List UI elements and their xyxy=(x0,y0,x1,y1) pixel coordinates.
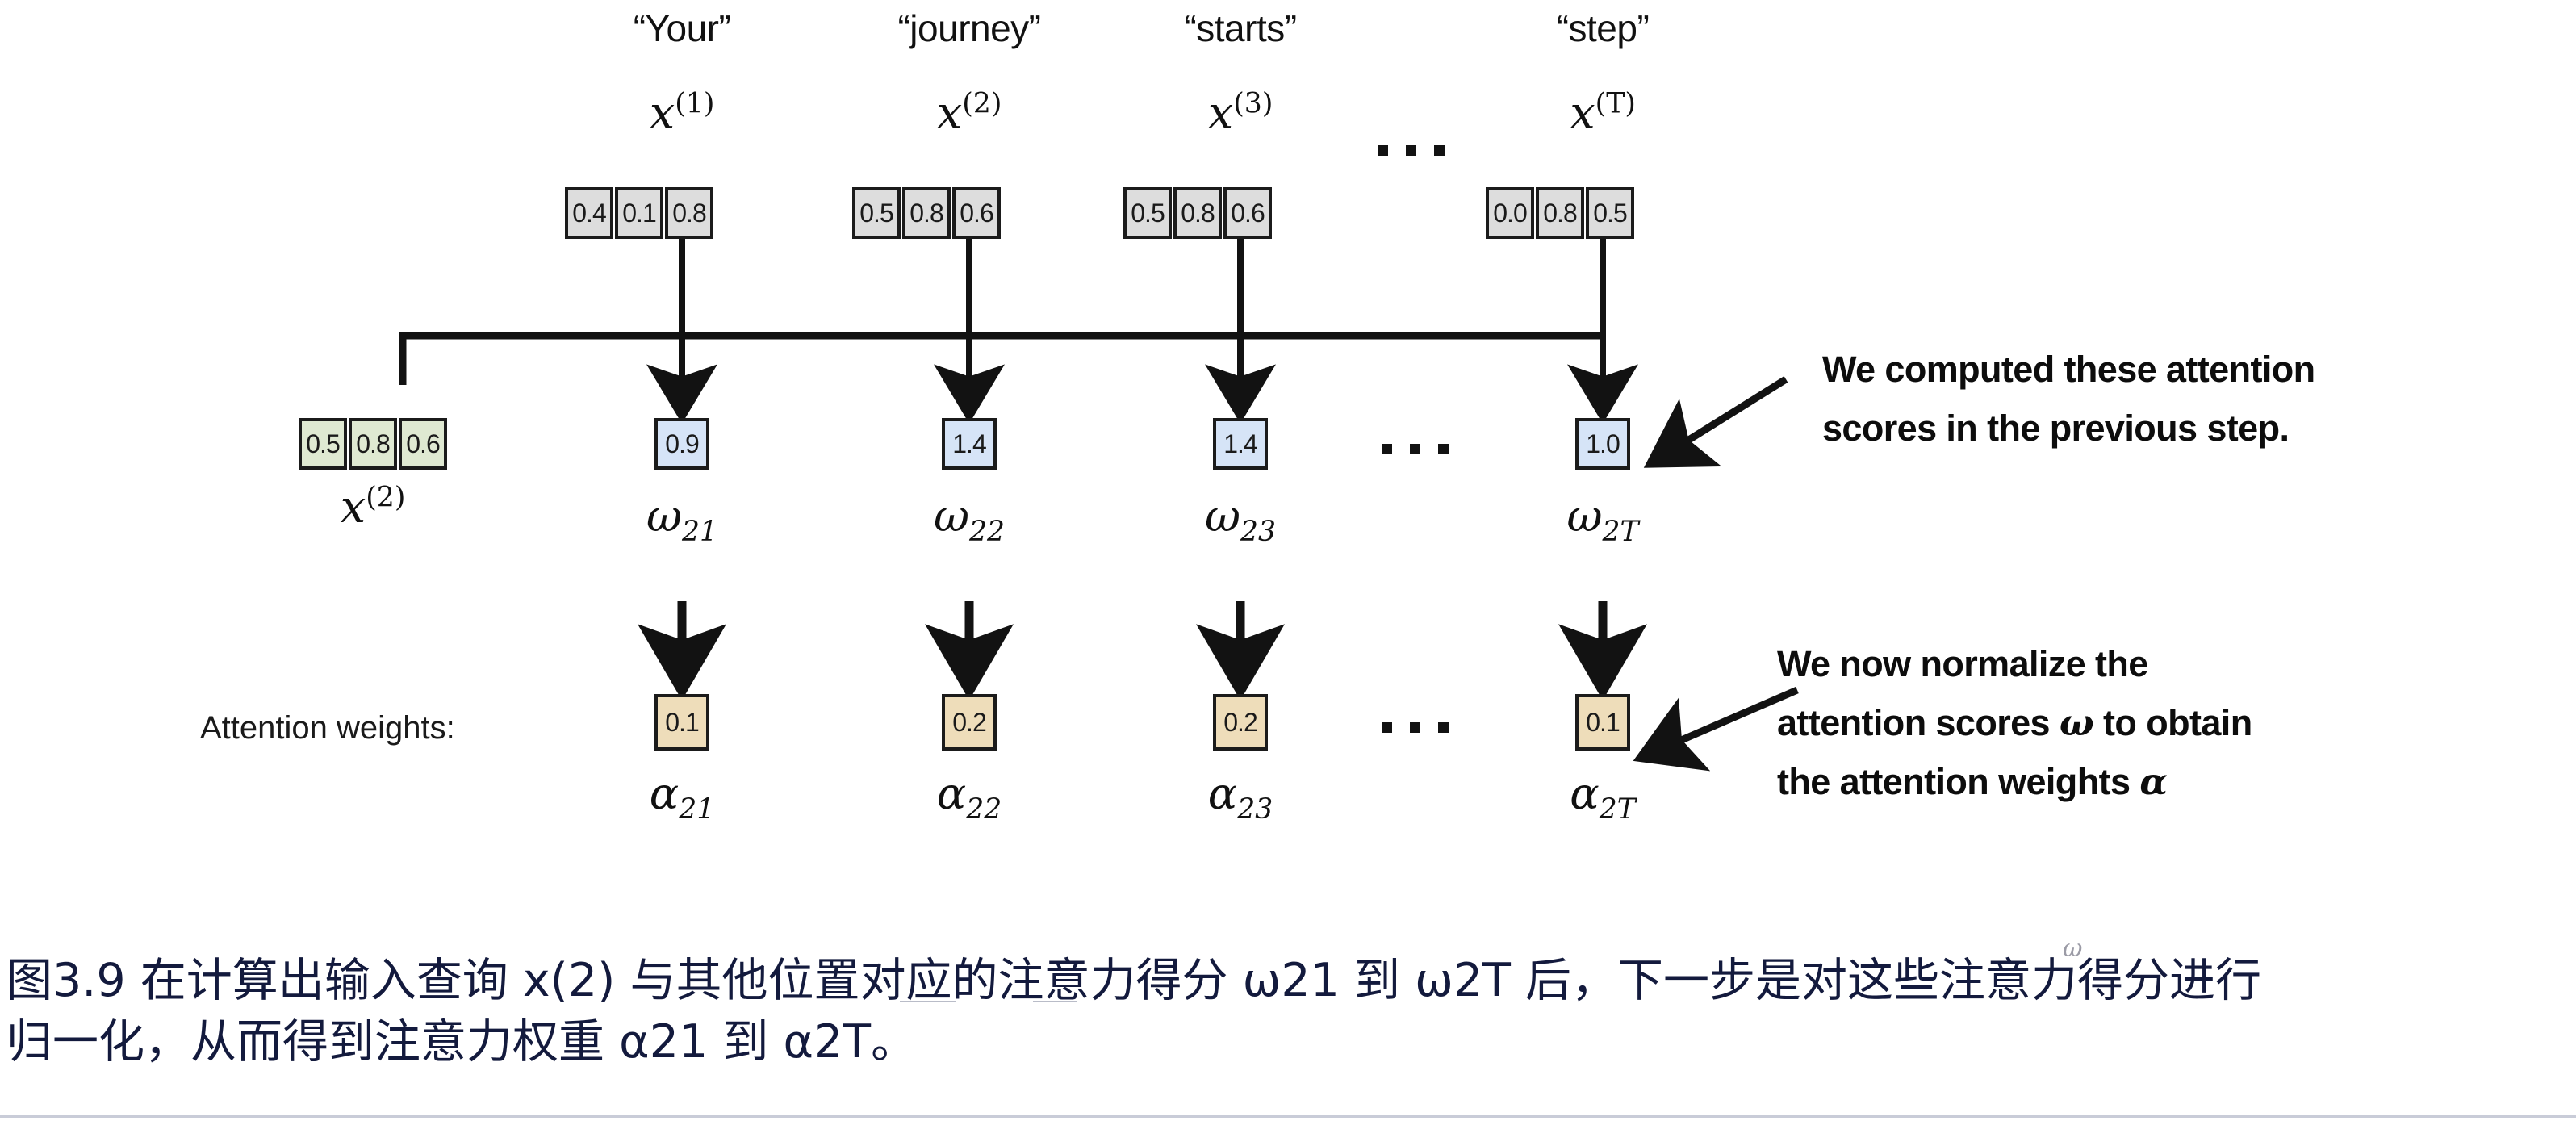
caption-line-2: 归一化，从而得到注意力权重 α21 到 α2T。 xyxy=(6,1012,2573,1073)
input-cell: 0.5 xyxy=(1123,187,1172,239)
token-symbol-0: x(1) xyxy=(565,87,799,140)
ellipsis-dot xyxy=(1382,444,1392,454)
ellipsis-dot xyxy=(1410,444,1420,454)
caption-line-1-text: 图3.9 在计算出输入查询 x(2) 与其他位置对应的注意力得分 ω21 到 ω… xyxy=(6,954,2261,1007)
score-cell: 1.0 xyxy=(1575,418,1630,470)
token-symbol-2: x(3) xyxy=(1123,87,1357,140)
token-symbol-sup-0: (1) xyxy=(675,87,714,119)
query-cell: 0.8 xyxy=(349,418,397,470)
weight-symbol-2: α23 xyxy=(1123,768,1357,826)
input-cell: 0.8 xyxy=(1536,187,1584,239)
weight-cell: 0.1 xyxy=(1575,694,1630,751)
token-symbol-base-3: x xyxy=(1570,87,1595,140)
score-symbol-2: ω23 xyxy=(1123,491,1357,548)
figure-caption: 图3.9 在计算出输入查询 x(2) 与其他位置对应的注意力得分 ω21 到 ω… xyxy=(6,951,2573,1073)
ellipsis-dot xyxy=(1382,722,1392,733)
weight-symbol-base-2: α xyxy=(1208,768,1237,819)
weight-cell: 0.1 xyxy=(654,694,709,751)
query-cell: 0.6 xyxy=(399,418,447,470)
token-word-1: “journey” xyxy=(852,6,1086,50)
input-row-ellipsis xyxy=(1378,145,1445,156)
score-row-ellipsis xyxy=(1382,444,1449,454)
ellipsis-dot xyxy=(1434,145,1445,156)
weight-symbol-3: α2T xyxy=(1486,768,1720,826)
ellipsis-dot xyxy=(1378,145,1388,156)
ellipsis-dot xyxy=(1406,145,1416,156)
token-symbol-base-1: x xyxy=(937,87,963,140)
score-symbol-sub-0: 21 xyxy=(682,516,717,548)
score-symbol-sub-3: 2T xyxy=(1603,516,1639,548)
score-symbol-base-0: ω xyxy=(646,491,682,542)
input-cell: 0.6 xyxy=(1223,187,1272,239)
weight-symbol-base-1: α xyxy=(937,768,966,819)
token-symbol-sup-3: (T) xyxy=(1595,87,1636,119)
weight-symbol-base-3: α xyxy=(1570,768,1599,819)
weights-annotation: We now normalize the attention scores ω … xyxy=(1777,635,2252,812)
token-symbol-3: x(T) xyxy=(1486,87,1720,140)
input-cell: 0.8 xyxy=(665,187,713,239)
score-symbol-base-2: ω xyxy=(1205,491,1240,542)
score-cell: 0.9 xyxy=(654,418,709,470)
input-cell: 0.8 xyxy=(1173,187,1222,239)
weight-cell: 0.2 xyxy=(1213,694,1268,751)
query-cell: 0.5 xyxy=(299,418,347,470)
score-cell: 1.4 xyxy=(1213,418,1268,470)
score-symbol-3: ω2T xyxy=(1486,491,1720,548)
input-cell: 0.5 xyxy=(1586,187,1634,239)
token-symbol-base-2: x xyxy=(1208,87,1234,140)
weight-symbol-sub-1: 22 xyxy=(966,793,1002,826)
attention-weights-label: Attention weights: xyxy=(200,710,455,747)
caption-line-1: 图3.9 在计算出输入查询 x(2) 与其他位置对应的注意力得分 ω21 到 ω… xyxy=(6,951,2573,1012)
score-symbol-0: ω21 xyxy=(565,491,799,548)
token-word-0: “Your” xyxy=(565,6,799,50)
weights-annotation-line-3: the attention weights α xyxy=(1777,753,2252,812)
figure-rule-artifact xyxy=(900,1001,956,1002)
figure-canvas: “Your” “journey” “starts” “step” x(1) x(… xyxy=(0,0,2576,1125)
weight-symbol-1: α22 xyxy=(852,768,1086,826)
token-word-3: “step” xyxy=(1486,6,1720,50)
score-symbol-sub-1: 22 xyxy=(969,516,1005,548)
weights-annotation-line-2: attention scores ω to obtain xyxy=(1777,694,2252,753)
alpha-symbol-inline: α xyxy=(2139,760,2167,803)
score-symbol-1: ω22 xyxy=(852,491,1086,548)
score-symbol-base-3: ω xyxy=(1566,491,1602,542)
query-symbol-base: x xyxy=(341,481,366,533)
caption-rule-artifact xyxy=(0,1115,2576,1118)
input-cell: 0.6 xyxy=(952,187,1001,239)
token-symbol-1: x(2) xyxy=(852,87,1086,140)
figure-rule-artifact xyxy=(1033,1001,1077,1002)
weight-symbol-sub-2: 23 xyxy=(1237,793,1273,826)
weights-annotation-line-2b: to obtain xyxy=(2093,702,2252,743)
input-cell: 0.5 xyxy=(852,187,901,239)
weights-annotation-line-3a: the attention weights xyxy=(1777,761,2139,802)
ellipsis-dot xyxy=(1410,722,1420,733)
token-symbol-base-0: x xyxy=(650,87,675,140)
scores-annotation-line-1: We computed these attention xyxy=(1822,341,2315,399)
scores-annotation-line-2: scores in the previous step. xyxy=(1822,399,2315,458)
score-cell: 1.4 xyxy=(942,418,997,470)
ellipsis-dot xyxy=(1438,722,1449,733)
weights-annotation-line-2a: attention scores xyxy=(1777,702,2060,743)
input-cell: 0.8 xyxy=(902,187,951,239)
input-cell: 0.0 xyxy=(1486,187,1534,239)
token-symbol-sup-2: (3) xyxy=(1233,87,1273,119)
input-cell: 0.1 xyxy=(615,187,663,239)
weight-symbol-sub-3: 2T xyxy=(1600,793,1636,826)
input-cell: 0.4 xyxy=(565,187,613,239)
weight-symbol-0: α21 xyxy=(565,768,799,826)
query-symbol-sup: (2) xyxy=(366,481,405,513)
token-symbol-sup-1: (2) xyxy=(962,87,1002,119)
token-word-2: “starts” xyxy=(1123,6,1357,50)
query-symbol: x(2) xyxy=(256,481,490,533)
weight-cell: 0.2 xyxy=(942,694,997,751)
omega-symbol-inline: ω xyxy=(2060,701,2093,744)
weight-symbol-sub-0: 21 xyxy=(679,793,714,826)
ellipsis-dot xyxy=(1438,444,1449,454)
score-symbol-sub-2: 23 xyxy=(1240,516,1276,548)
weight-row-ellipsis xyxy=(1382,722,1449,733)
scores-annotation: We computed these attention scores in th… xyxy=(1822,341,2315,458)
score-symbol-base-1: ω xyxy=(934,491,969,542)
caption-ghost-mark: ω xyxy=(2063,933,2082,965)
weights-annotation-line-1: We now normalize the xyxy=(1777,635,2252,694)
weight-symbol-base-0: α xyxy=(650,768,679,819)
